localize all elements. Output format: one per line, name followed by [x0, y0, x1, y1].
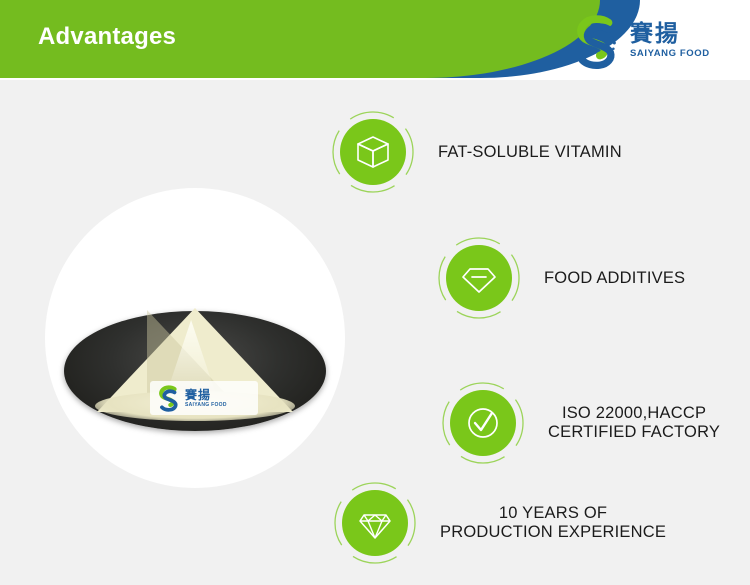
product-photo: 賽揚 SAIYANG FOOD [45, 188, 345, 488]
feature-icon-wrapper [330, 109, 416, 195]
feature-icon-wrapper [440, 380, 526, 466]
page-title: Advantages [38, 23, 176, 51]
watermark-wordmark: 賽揚 SAIYANG FOOD [185, 389, 227, 408]
feature-label: 10 YEARS OF PRODUCTION EXPERIENCE [440, 504, 666, 542]
gem-icon [459, 258, 499, 298]
image-watermark-logo: 賽揚 SAIYANG FOOD [150, 381, 258, 415]
logo-s-mark-icon [566, 12, 624, 70]
check-circle-icon [463, 403, 503, 443]
feature-item-iso-certified: ISO 22000,HACCP CERTIFIED FACTORY [440, 380, 720, 466]
watermark-s-mark-icon [154, 384, 182, 412]
feature-item-fat-soluble-vitamin: FAT-SOLUBLE VITAMIN [330, 109, 622, 195]
brand-logo: 賽揚 SAIYANG FOOD [566, 10, 736, 72]
feature-icon-circle [450, 390, 516, 456]
diamond-icon [355, 503, 395, 543]
feature-icon-wrapper [332, 480, 418, 566]
feature-label: ISO 22000,HACCP CERTIFIED FACTORY [548, 404, 720, 442]
advantages-page: Advantages 賽揚 SAIYANG FOOD [0, 0, 750, 585]
feature-label: FOOD ADDITIVES [544, 269, 685, 288]
watermark-english-name: SAIYANG FOOD [185, 403, 227, 408]
logo-chinese-name: 賽揚 [630, 23, 710, 46]
watermark-chinese-name: 賽揚 [185, 389, 227, 401]
feature-label: FAT-SOLUBLE VITAMIN [438, 143, 622, 162]
feature-item-production-experience: 10 YEARS OF PRODUCTION EXPERIENCE [332, 480, 666, 566]
feature-icon-wrapper [436, 235, 522, 321]
feature-item-food-additives: FOOD ADDITIVES [436, 235, 685, 321]
logo-wordmark: 賽揚 SAIYANG FOOD [630, 23, 710, 59]
feature-icon-circle [340, 119, 406, 185]
header-divider [0, 78, 750, 80]
feature-icon-circle [446, 245, 512, 311]
feature-icon-circle [342, 490, 408, 556]
cube-icon [353, 132, 393, 172]
logo-english-name: SAIYANG FOOD [630, 49, 710, 59]
